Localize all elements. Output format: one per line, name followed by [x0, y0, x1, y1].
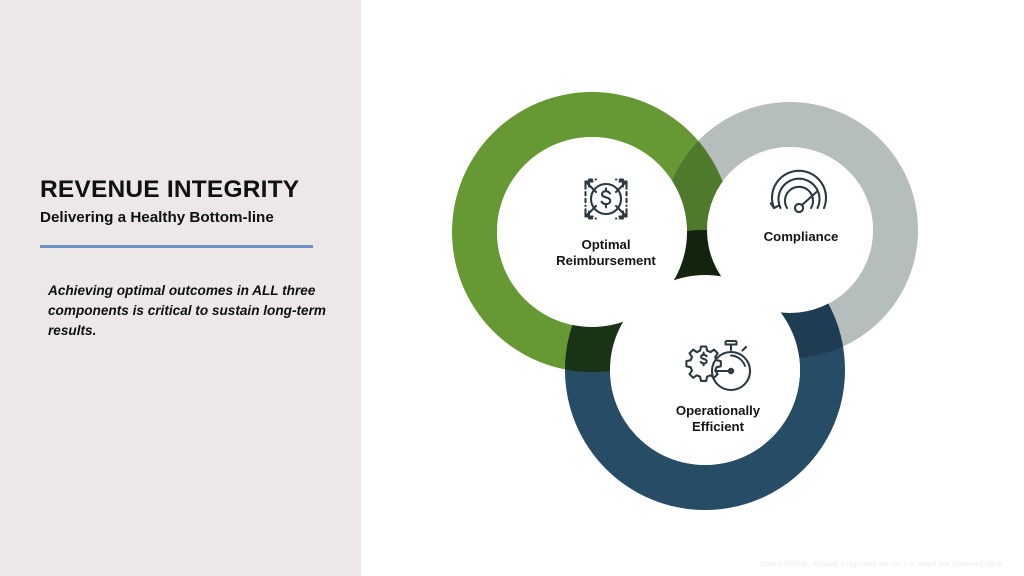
left-text-panel: REVENUE INTEGRITY Delivering a Healthy B…	[0, 0, 361, 576]
title-divider	[40, 245, 313, 248]
venn-diagram-area: Optimal Reimbursement Compliance	[361, 0, 1024, 576]
body-paragraph: Achieving optimal outcomes in ALL three …	[48, 281, 326, 341]
gauge-speedometer-icon	[766, 166, 836, 222]
venn-node-compliance[interactable]: Compliance	[721, 166, 881, 245]
page-subtitle: Delivering a Healthy Bottom-line	[40, 208, 330, 228]
venn-node-label-optimal-reimbursement: Optimal Reimbursement	[521, 237, 691, 269]
venn-rings-svg	[361, 0, 1024, 576]
dollar-expand-arrows-icon	[569, 168, 643, 230]
venn-node-label-operationally-efficient: Operationally Efficient	[633, 403, 803, 435]
venn-node-operationally-efficient[interactable]: Operationally Efficient	[633, 338, 803, 435]
venn-node-label-compliance: Compliance	[721, 229, 881, 245]
confidential-footer-note: CONFIDENTIAL - MDaudit is registered wit…	[760, 561, 1002, 568]
title-block: REVENUE INTEGRITY Delivering a Healthy B…	[40, 176, 330, 228]
page-title: REVENUE INTEGRITY	[40, 176, 330, 203]
gear-stopwatch-icon	[679, 338, 757, 396]
venn-node-optimal-reimbursement[interactable]: Optimal Reimbursement	[521, 168, 691, 269]
